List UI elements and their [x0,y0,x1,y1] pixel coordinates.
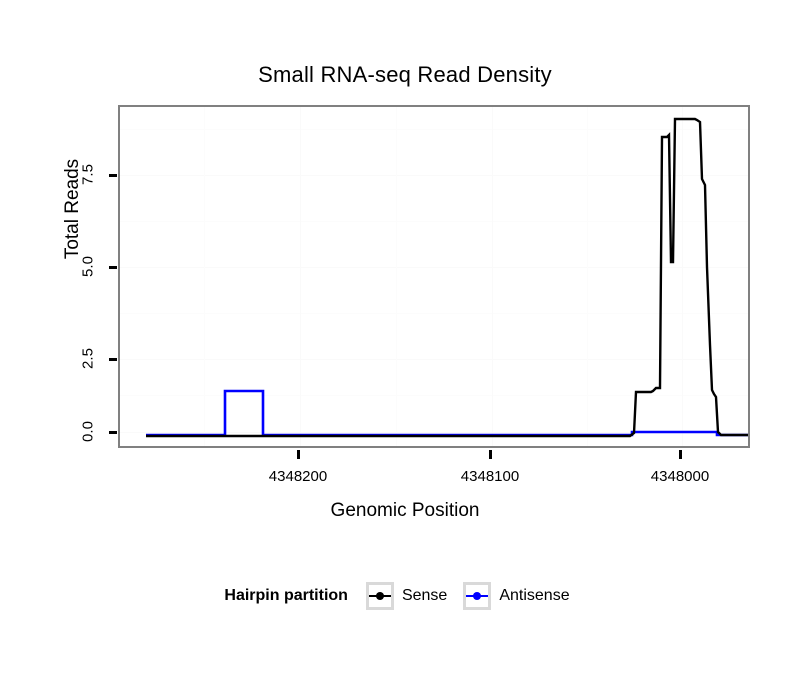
y-tick-label-0: 0.0 [80,412,97,452]
legend-item-antisense[interactable]: Antisense [463,582,569,610]
plot-area [120,107,748,446]
legend-key-antisense [463,582,491,610]
y-tick-mark-1 [109,358,117,361]
x-tick-label-0: 4348200 [238,468,358,485]
legend-item-sense[interactable]: Sense [366,582,447,610]
x-tick-label-1: 4348100 [430,468,550,485]
y-tick-mark-0 [109,431,117,434]
x-tick-mark-0 [297,450,300,459]
y-tick-label-2: 5.0 [80,247,97,287]
legend-title: Hairpin partition [224,587,348,605]
x-tick-label-2: 4348000 [620,468,740,485]
legend-key-swatch-antisense [466,585,488,607]
plot-panel [118,105,750,448]
legend-key-sense [366,582,394,610]
legend-point-icon [473,592,481,600]
series-line-sense [146,119,748,436]
chart-root: Small RNA-seq Read Density Total Reads 0… [0,0,810,690]
x-tick-mark-2 [679,450,682,459]
y-tick-label-3: 7.5 [80,155,97,195]
legend-label-antisense: Antisense [499,587,569,605]
legend-point-icon [376,592,384,600]
y-tick-mark-2 [109,266,117,269]
x-tick-mark-1 [489,450,492,459]
page-title: Small RNA-seq Read Density [0,62,810,88]
legend-key-swatch-sense [369,585,391,607]
y-tick-mark-3 [109,174,117,177]
series-line-antisense [146,391,748,435]
x-axis-label: Genomic Position [0,500,810,522]
legend-label-sense: Sense [402,587,447,605]
series-canvas [120,107,748,446]
legend: Hairpin partition Sense Antisense [0,582,810,610]
y-tick-label-1: 2.5 [80,339,97,379]
